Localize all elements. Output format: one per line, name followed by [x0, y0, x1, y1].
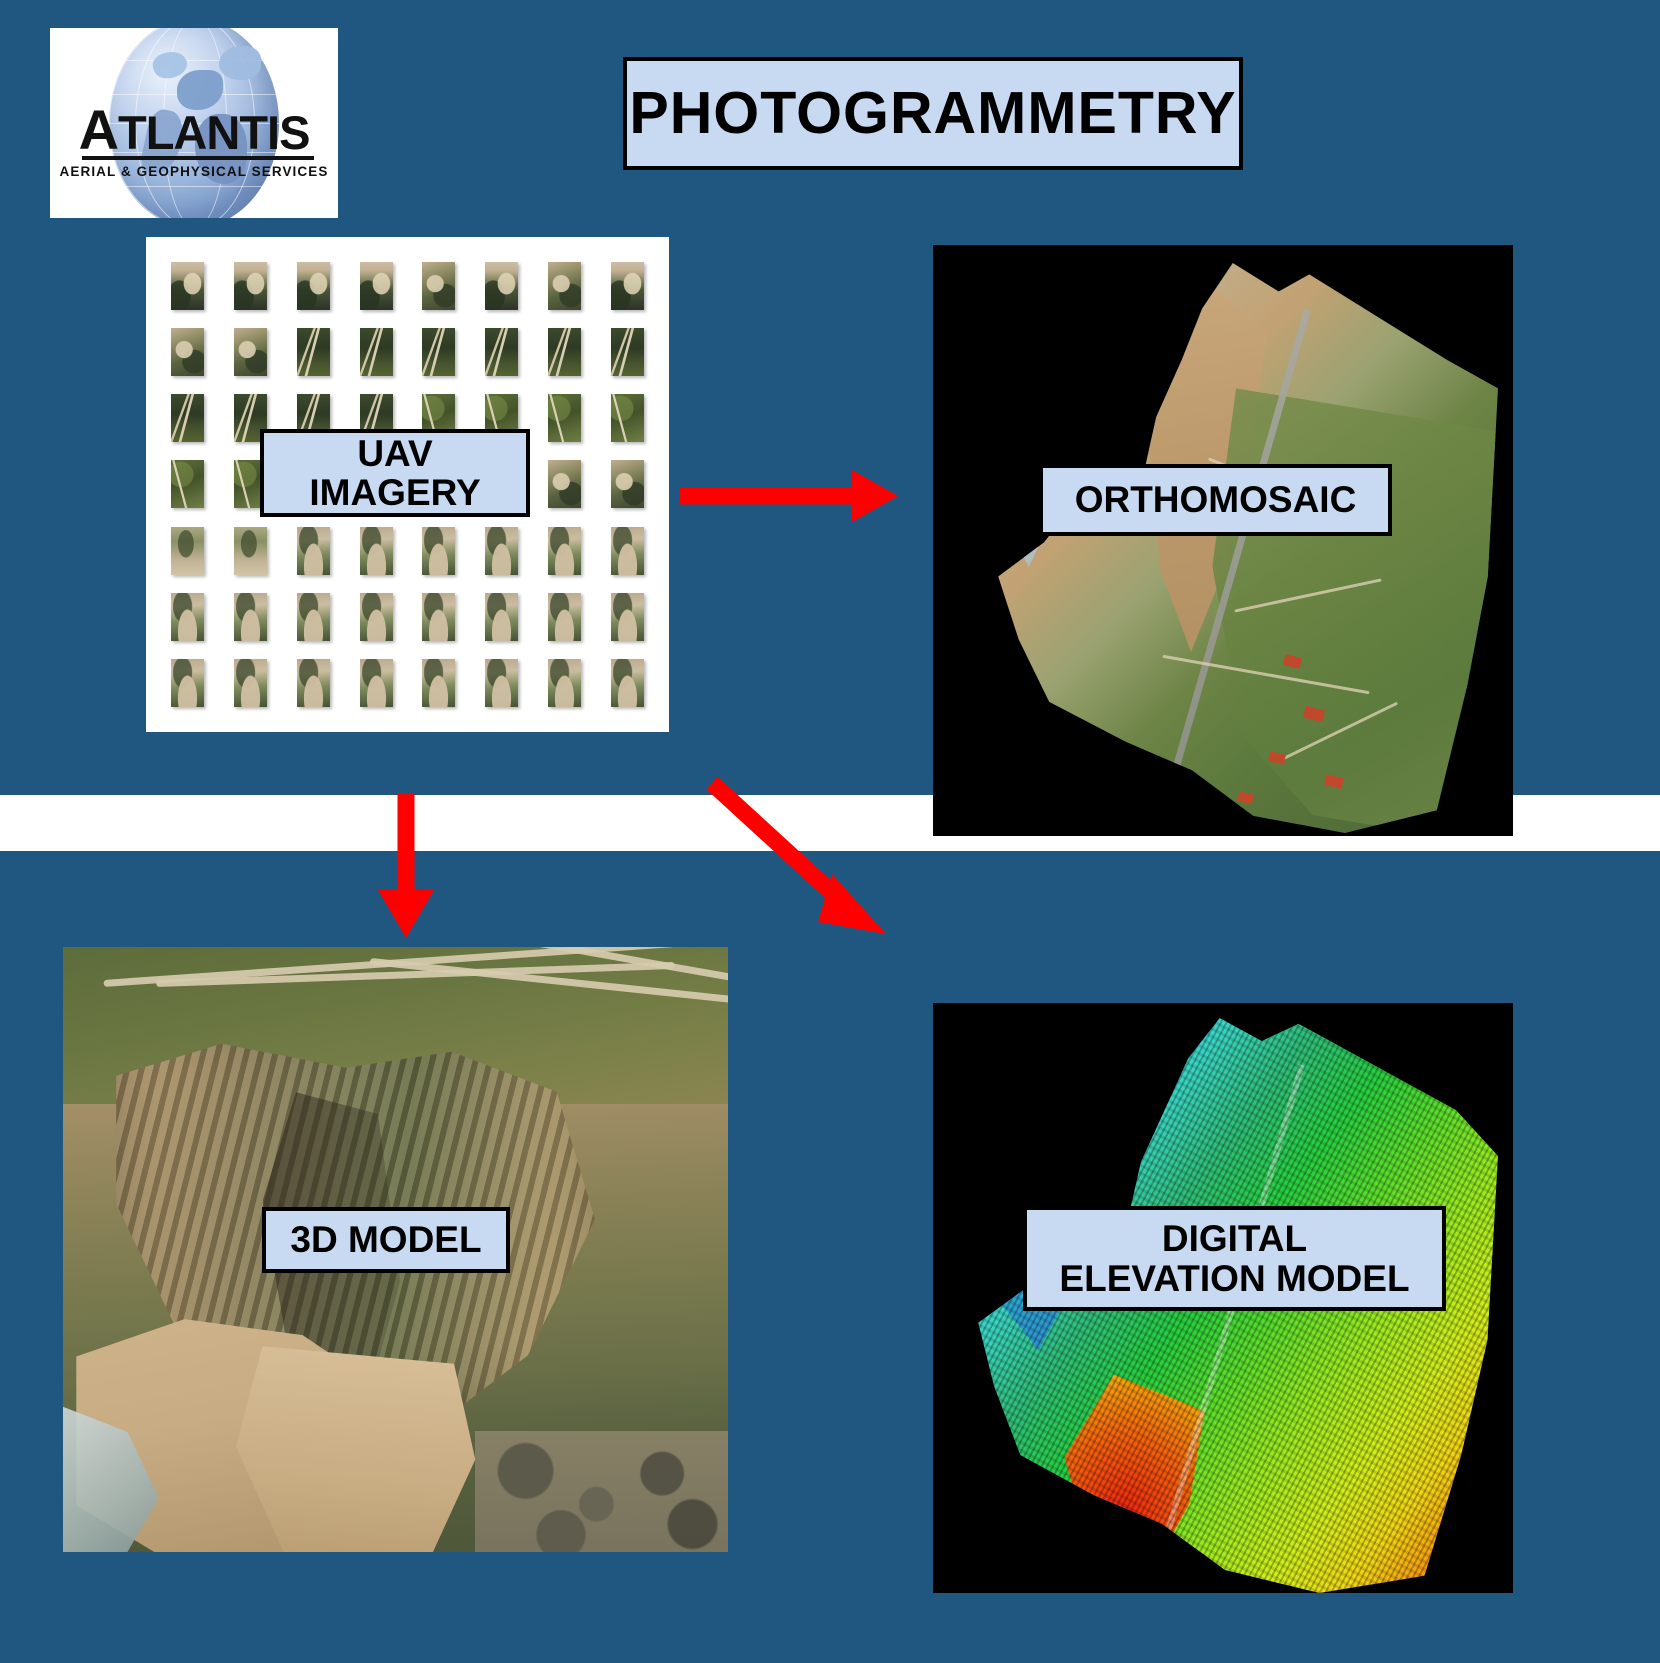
uav-thumbnail: [234, 659, 267, 707]
uav-thumbnail: [234, 593, 267, 641]
uav-thumbnail: [171, 460, 204, 508]
digital-elevation-model-label: DIGITAL ELEVATION MODEL: [1023, 1206, 1446, 1311]
uav-thumbnail: [548, 460, 581, 508]
uav-thumbnail: [422, 328, 455, 376]
uav-thumbnail: [234, 527, 267, 575]
uav-thumbnail: [548, 394, 581, 442]
uav-thumbnail: [485, 328, 518, 376]
uav-thumbnail: [171, 593, 204, 641]
uav-thumbnail: [611, 460, 644, 508]
uav-thumbnail: [171, 659, 204, 707]
rock-field: [475, 1431, 728, 1552]
uav-thumbnail: [234, 262, 267, 310]
uav-thumbnail: [234, 328, 267, 376]
uav-label-line2: IMAGERY: [309, 472, 480, 513]
uav-thumbnail: [611, 659, 644, 707]
uav-thumbnail: [297, 328, 330, 376]
uav-thumbnail: [485, 262, 518, 310]
uav-thumbnail: [360, 527, 393, 575]
slide-canvas: ATLANTIS AERIAL & GEOPHYSICAL SERVICES P…: [0, 0, 1660, 1663]
uav-imagery-label: UAV IMAGERY: [260, 429, 530, 517]
atlantis-logo: ATLANTIS AERIAL & GEOPHYSICAL SERVICES: [50, 28, 338, 218]
uav-thumbnail: [548, 659, 581, 707]
orthomosaic-label: ORTHOMOSAIC: [1039, 464, 1392, 536]
uav-thumbnail: [611, 394, 644, 442]
uav-thumbnail: [171, 262, 204, 310]
arrow-uav-to-orthomosaic: [680, 470, 898, 522]
uav-thumbnail: [360, 262, 393, 310]
dem-label-line2: ELEVATION MODEL: [1059, 1258, 1409, 1299]
uav-thumbnail: [360, 659, 393, 707]
uav-thumbnail: [297, 659, 330, 707]
uav-thumbnail: [485, 593, 518, 641]
uav-thumbnail: [548, 262, 581, 310]
uav-label-line1: UAV: [357, 433, 432, 474]
page-title: PHOTOGRAMMETRY: [623, 57, 1243, 170]
uav-thumbnail: [297, 527, 330, 575]
logo-tagline: AERIAL & GEOPHYSICAL SERVICES: [50, 164, 338, 179]
uav-thumbnail: [297, 593, 330, 641]
3d-model-label: 3D MODEL: [262, 1207, 510, 1273]
uav-thumbnail: [548, 527, 581, 575]
orthomosaic-image: [988, 263, 1498, 833]
uav-thumbnail: [422, 262, 455, 310]
uav-thumbnail: [611, 262, 644, 310]
uav-thumbnail: [548, 328, 581, 376]
uav-thumbnail: [422, 527, 455, 575]
uav-thumbnail: [485, 659, 518, 707]
uav-thumbnail: [171, 394, 204, 442]
uav-thumbnail: [171, 527, 204, 575]
logo-initial: A: [79, 98, 118, 161]
uav-thumbnail: [485, 527, 518, 575]
uav-thumbnail: [611, 328, 644, 376]
logo-wordmark: ATLANTIS: [50, 102, 338, 158]
uav-thumbnail: [422, 593, 455, 641]
uav-thumbnail: [611, 527, 644, 575]
uav-thumbnail: [611, 593, 644, 641]
uav-thumbnail: [360, 593, 393, 641]
uav-thumbnail: [422, 659, 455, 707]
uav-thumbnail: [360, 328, 393, 376]
logo-name-rest: TLANTIS: [118, 106, 309, 159]
uav-thumbnail: [171, 328, 204, 376]
logo-rule: [82, 156, 314, 160]
uav-thumbnail: [297, 262, 330, 310]
orthomosaic-panel: [933, 245, 1513, 836]
uav-thumbnail: [548, 593, 581, 641]
dem-label-line1: DIGITAL: [1162, 1218, 1307, 1259]
